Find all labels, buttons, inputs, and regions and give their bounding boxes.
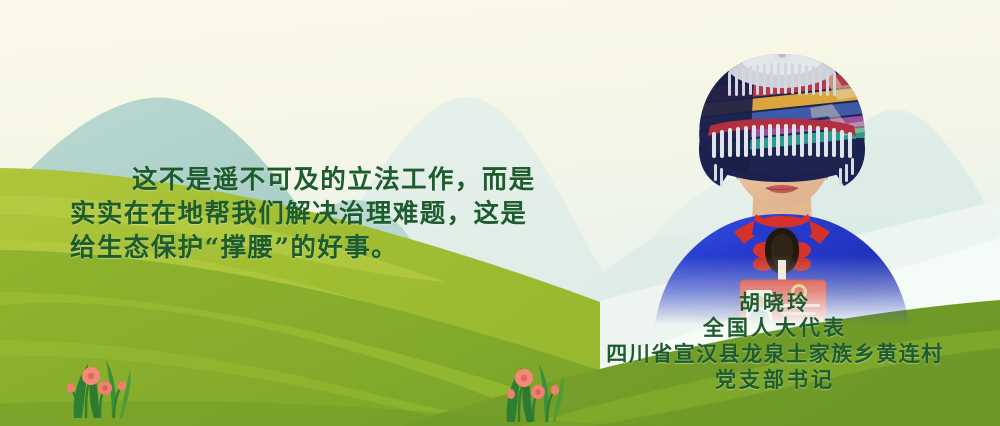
flower-bud: [551, 385, 559, 395]
delegate-role: 全国人大代表: [560, 315, 990, 341]
delegate-org-line2: 党支部书记: [560, 367, 990, 393]
delegate-org-line1: 四川省宣汉县龙泉土家族乡黄连村: [560, 341, 990, 367]
flower-bud: [118, 381, 126, 391]
delegate-portrait: [632, 28, 932, 328]
flower-bloom-center: [88, 373, 95, 380]
flower-bud: [507, 389, 515, 399]
traditional-hat: [682, 40, 902, 188]
stem: [519, 384, 523, 422]
delegate-caption: 胡晓玲 全国人大代表 四川省宣汉县龙泉土家族乡黄连村 党支部书记: [560, 290, 990, 393]
quote-banner: 这不是遥不可及的立法工作，而是 实实在在地帮我们解决治理难题，这是 给生态保护“…: [0, 0, 1000, 426]
flower-bloom-center: [521, 375, 528, 382]
flower-bloom-center: [102, 385, 107, 390]
flower-cluster-left: [67, 360, 131, 418]
flower-bud: [67, 383, 75, 393]
hat-crown-jewel-core: [778, 50, 786, 58]
leaf: [120, 370, 131, 418]
quote-text: 这不是遥不可及的立法工作，而是 实实在在地帮我们解决治理难题，这是 给生态保护“…: [70, 163, 630, 265]
quote-line-1: 这不是遥不可及的立法工作，而是: [70, 163, 630, 197]
quote-line-3: 给生态保护“撑腰”的好事。: [70, 231, 630, 265]
delegate-name: 胡晓玲: [560, 290, 990, 315]
flower-cluster-center: [507, 364, 564, 422]
flower-bloom-center: [535, 389, 540, 394]
quote-line-2: 实实在在地帮我们解决治理难题，这是: [70, 197, 630, 231]
stem: [86, 380, 90, 418]
